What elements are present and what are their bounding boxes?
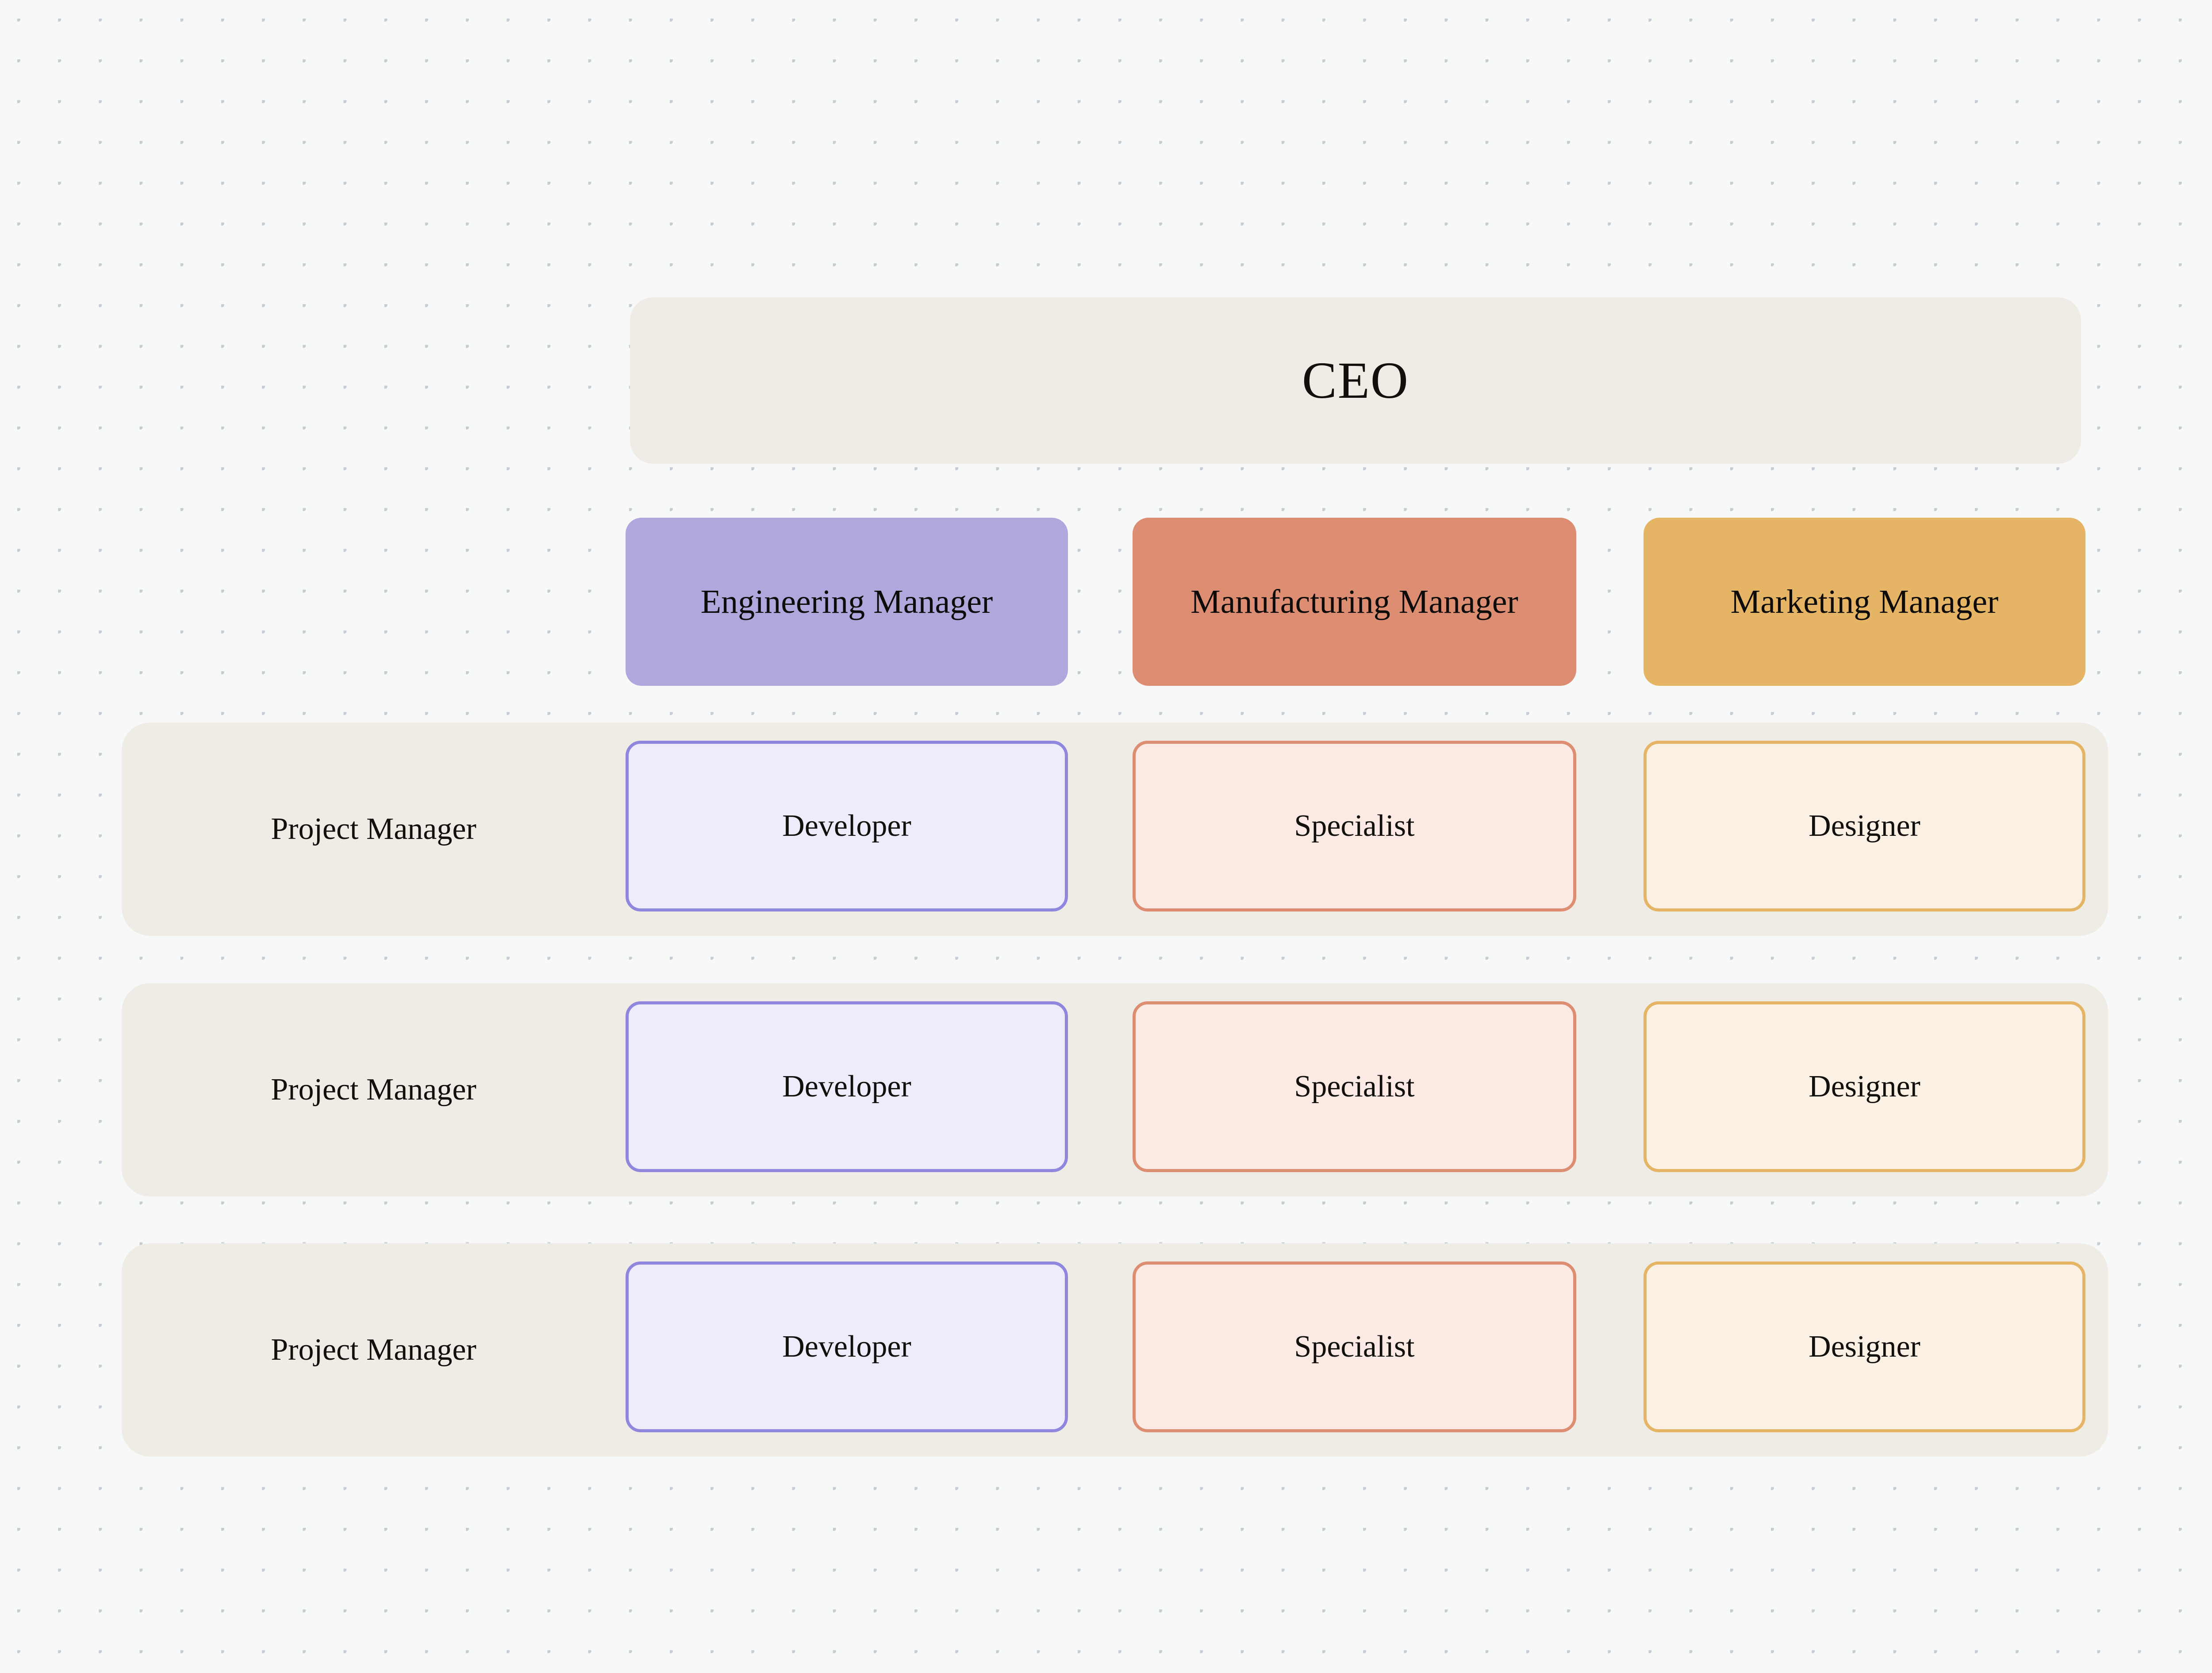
node-specialist[interactable]: Specialist bbox=[1133, 1001, 1576, 1172]
node-project-manager-label: Project Manager bbox=[122, 983, 626, 1196]
team-row: Project Manager Developer Specialist Des… bbox=[122, 723, 2108, 936]
node-ceo-label: CEO bbox=[1302, 354, 1409, 407]
node-manufacturing-manager-label: Manufacturing Manager bbox=[1190, 585, 1518, 619]
node-specialist-label: Specialist bbox=[1294, 1071, 1414, 1102]
org-chart-canvas: CEO Engineering Manager Manufacturing Ma… bbox=[0, 0, 2212, 1673]
team-row: Project Manager Developer Specialist Des… bbox=[122, 1243, 2108, 1457]
node-specialist-label: Specialist bbox=[1294, 811, 1414, 842]
node-marketing-manager[interactable]: Marketing Manager bbox=[1644, 518, 2085, 686]
node-specialist-label: Specialist bbox=[1294, 1331, 1414, 1362]
node-developer-label: Developer bbox=[782, 1071, 911, 1102]
node-designer-label: Designer bbox=[1809, 1331, 1920, 1362]
node-designer-label: Designer bbox=[1809, 1071, 1920, 1102]
manager-row: Engineering Manager Manufacturing Manage… bbox=[0, 518, 2212, 686]
node-specialist[interactable]: Specialist bbox=[1133, 1261, 1576, 1432]
node-developer[interactable]: Developer bbox=[626, 741, 1068, 911]
node-developer[interactable]: Developer bbox=[626, 1261, 1068, 1432]
node-designer-label: Designer bbox=[1809, 811, 1920, 842]
node-developer[interactable]: Developer bbox=[626, 1001, 1068, 1172]
node-manufacturing-manager[interactable]: Manufacturing Manager bbox=[1133, 518, 1576, 686]
node-project-manager-label: Project Manager bbox=[122, 1243, 626, 1457]
node-specialist[interactable]: Specialist bbox=[1133, 741, 1576, 911]
node-designer[interactable]: Designer bbox=[1644, 1001, 2085, 1172]
node-engineering-manager[interactable]: Engineering Manager bbox=[626, 518, 1068, 686]
node-designer[interactable]: Designer bbox=[1644, 1261, 2085, 1432]
node-designer[interactable]: Designer bbox=[1644, 741, 2085, 911]
node-marketing-manager-label: Marketing Manager bbox=[1731, 585, 1999, 619]
team-row: Project Manager Developer Specialist Des… bbox=[122, 983, 2108, 1196]
node-developer-label: Developer bbox=[782, 1331, 911, 1362]
node-project-manager-label: Project Manager bbox=[122, 723, 626, 936]
node-engineering-manager-label: Engineering Manager bbox=[701, 585, 993, 619]
node-ceo[interactable]: CEO bbox=[630, 297, 2081, 464]
node-developer-label: Developer bbox=[782, 811, 911, 842]
